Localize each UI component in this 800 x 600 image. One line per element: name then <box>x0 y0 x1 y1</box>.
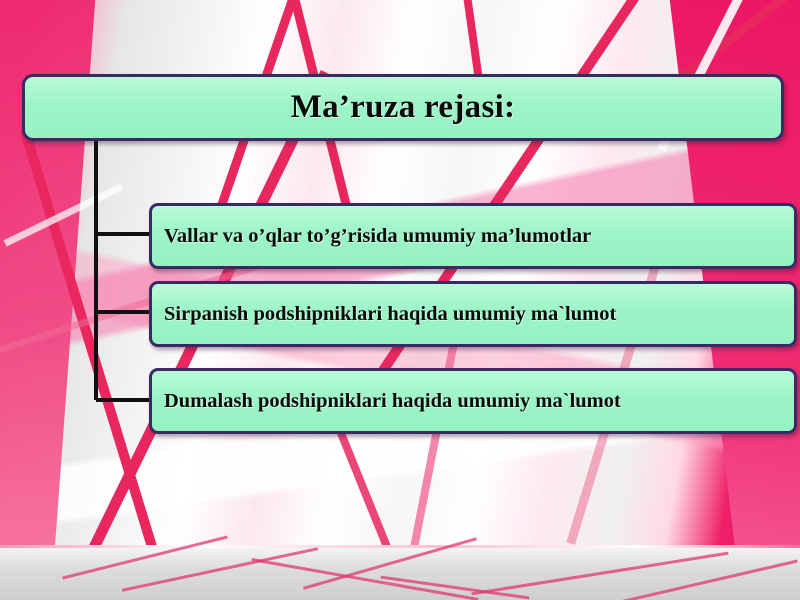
slide: Ma’ruza rejasi: Vallar va o’qlar to’g’ri… <box>0 0 800 600</box>
agenda-item-1-box: Vallar va o’qlar to’g’risida umumiy ma’l… <box>149 203 797 269</box>
agenda-item-1-label: Vallar va o’qlar to’g’risida umumiy ma’l… <box>164 225 591 248</box>
agenda-item-2-box: Sirpanish podshipniklari haqida umumiy m… <box>149 281 797 347</box>
slide-title-box: Ma’ruza rejasi: <box>22 74 784 141</box>
agenda-item-3-label: Dumalash podshipniklari haqida umumiy ma… <box>164 390 621 413</box>
page-title: Ma’ruza rejasi: <box>291 89 516 126</box>
agenda-item-3-box: Dumalash podshipniklari haqida umumiy ma… <box>149 368 797 434</box>
agenda-item-2-label: Sirpanish podshipniklari haqida umumiy m… <box>164 303 616 326</box>
